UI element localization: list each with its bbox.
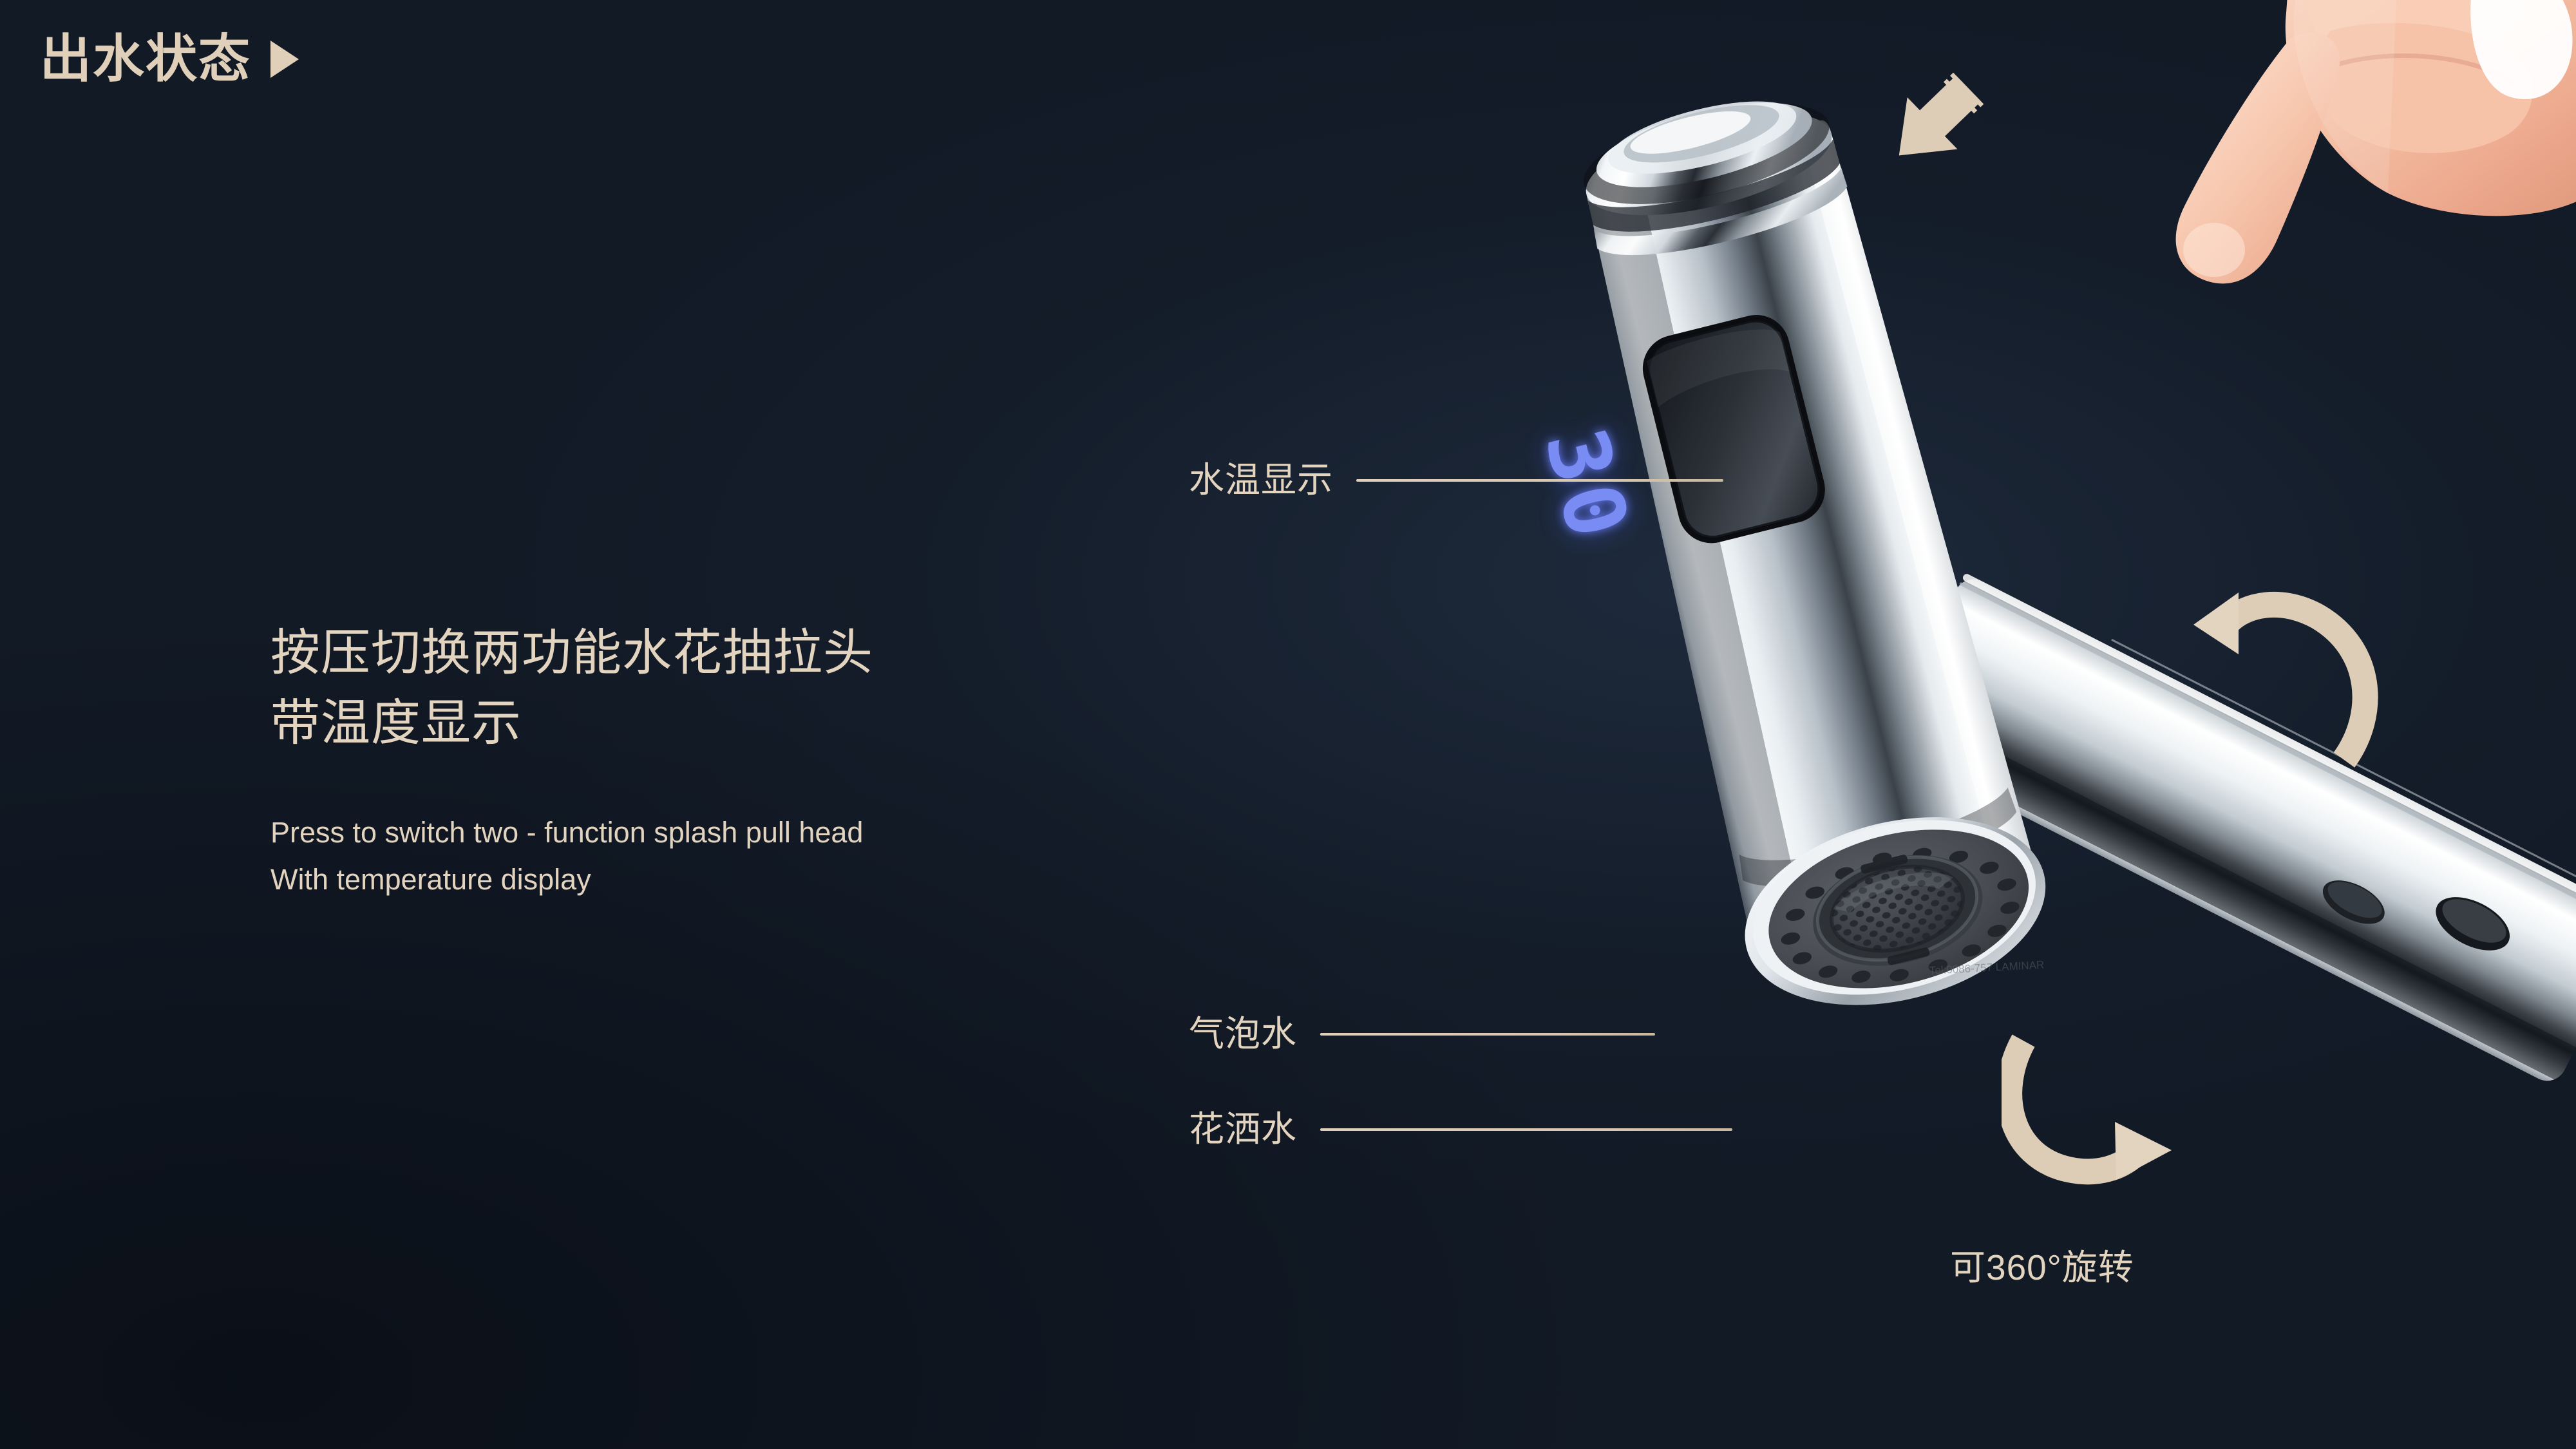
leader-line xyxy=(1356,479,1723,482)
hand-pressing-icon xyxy=(2117,0,2576,322)
callout-label: 水温显示 xyxy=(1189,462,1333,498)
callout-shower-water: 花洒水 xyxy=(1189,1112,1732,1147)
subcopy-block: Press to switch two - function splash pu… xyxy=(270,810,1172,904)
copy-block: 按压切换两功能水花抽拉头 带温度显示 Press to switch two -… xyxy=(270,618,1172,903)
subcopy-line-2: With temperature display xyxy=(270,857,1172,904)
play-triangle-icon xyxy=(270,41,299,78)
rotate-clockwise-arrow-icon xyxy=(2002,1030,2208,1191)
leader-line xyxy=(1320,1128,1732,1131)
callout-rotation-label: 可360°旋转 xyxy=(1950,1238,2134,1290)
callout-label: 花洒水 xyxy=(1189,1112,1297,1147)
callout-label: 气泡水 xyxy=(1189,1016,1297,1052)
rotate-counterclockwise-arrow-icon xyxy=(2191,587,2384,774)
page-title: 出水状态 xyxy=(40,33,251,85)
header: 出水状态 xyxy=(40,33,299,85)
press-down-arrow-icon xyxy=(1868,57,1998,187)
subcopy-line-1: Press to switch two - function splash pu… xyxy=(270,810,1172,857)
callout-temperature-display: 水温显示 xyxy=(1189,462,1723,498)
leader-line xyxy=(1320,1033,1655,1036)
headline-line-1: 按压切换两功能水花抽拉头 xyxy=(270,618,1172,688)
callout-aerated-water: 气泡水 xyxy=(1189,1016,1655,1052)
headline-line-2: 带温度显示 xyxy=(270,688,1172,759)
product-feature-slide: 出水状态 按压切换两功能水花抽拉头 带温度显示 Press to switch … xyxy=(0,0,2576,1449)
